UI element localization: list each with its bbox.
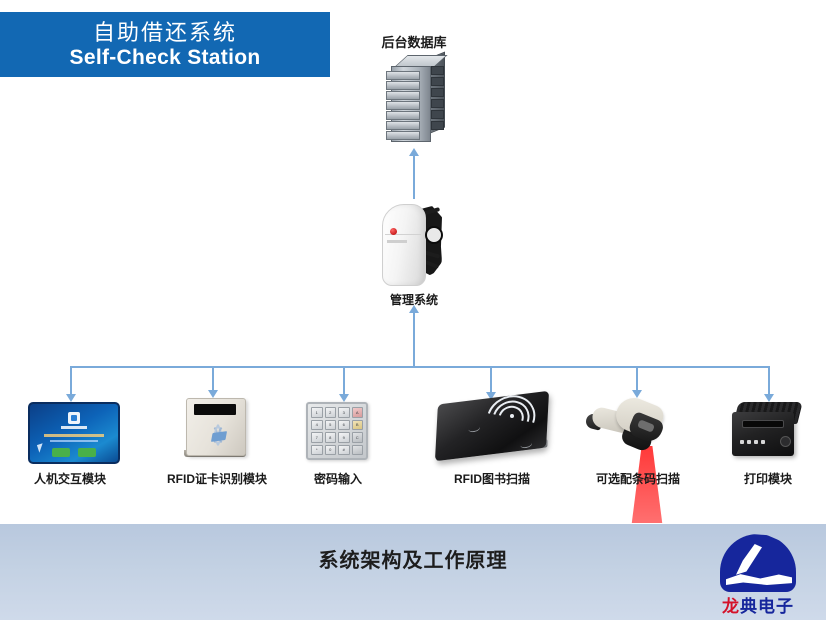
connector-drop-4 (490, 366, 492, 394)
slide-footer: 系统架构及工作原理 龙典电子 (0, 523, 826, 620)
receipt-printer-icon (732, 400, 804, 460)
connector-drop-3 (343, 366, 345, 396)
barcode-scanner-icon (586, 394, 672, 466)
keypad-key[interactable]: 2 (325, 407, 337, 418)
keypad-key[interactable]: 1 (311, 407, 323, 418)
card-reader-icon (186, 398, 248, 462)
keypad-key[interactable]: 3 (338, 407, 350, 418)
keypad-grid: 1 2 3 A 4 5 6 B 7 8 9 C * 0 # (311, 407, 363, 455)
connector-mgmt-arrow (409, 305, 419, 313)
header-title-en: Self-Check Station (70, 45, 261, 70)
keypad-key[interactable]: 9 (338, 432, 350, 443)
keypad-key[interactable]: B (352, 420, 364, 431)
module-label-3: 密码输入 (292, 470, 384, 487)
connector-db-arrow (409, 148, 419, 156)
connector-drop-arrow-3 (339, 394, 349, 402)
slide-header: 自助借还系统 Self-Check Station (0, 12, 330, 77)
slide-canvas: 自助借还系统 Self-Check Station 后台数据库 (0, 0, 826, 620)
module-label-1: 人机交互模块 (6, 470, 134, 487)
keypad-key[interactable]: 7 (311, 432, 323, 443)
logo-wordmark-rest: 典电子 (740, 597, 794, 617)
keypad-key[interactable] (352, 445, 364, 456)
connector-drop-arrow-1 (66, 394, 76, 402)
module-label-4: RFID图书扫描 (428, 470, 556, 487)
connector-drop-1 (70, 366, 72, 396)
connector-bus-horizontal (70, 366, 769, 368)
keypad-key[interactable]: 6 (338, 420, 350, 431)
company-logo: 龙典电子 (706, 532, 810, 614)
connector-drop-5 (636, 366, 638, 392)
connector-drop-2 (212, 366, 214, 392)
connector-drop-arrow-2 (208, 390, 218, 398)
logo-wordmark-first: 龙 (722, 597, 740, 617)
database-node-label: 后台数据库 (330, 32, 498, 51)
keypad-key[interactable]: # (338, 445, 350, 456)
keypad-key[interactable]: C (352, 432, 364, 443)
header-title-cn: 自助借还系统 (93, 20, 237, 45)
server-rack-icon (383, 52, 445, 142)
rfid-pad-icon (432, 396, 552, 464)
keypad-key[interactable]: A (352, 407, 364, 418)
keypad-key[interactable]: 5 (325, 420, 337, 431)
module-label-5: 可选配条码扫描 (574, 470, 702, 487)
kiosk-terminal-icon (380, 200, 446, 286)
connector-db-mgmt (413, 155, 415, 199)
module-label-6: 打印模块 (718, 470, 818, 487)
keypad-key[interactable]: * (311, 445, 323, 456)
keypad-key[interactable]: 0 (325, 445, 337, 456)
connector-mgmt-bus (413, 312, 415, 366)
touchscreen-icon (28, 402, 120, 464)
connector-drop-6 (768, 366, 770, 396)
keypad-key[interactable]: 4 (311, 420, 323, 431)
logo-wordmark: 龙典电子 (706, 592, 810, 617)
keypad-key[interactable]: 8 (325, 432, 337, 443)
keypad-icon: 1 2 3 A 4 5 6 B 7 8 9 C * 0 # (306, 402, 368, 460)
module-label-2: RFID证卡识别模块 (146, 470, 288, 487)
footer-title: 系统架构及工作原理 (0, 544, 826, 573)
